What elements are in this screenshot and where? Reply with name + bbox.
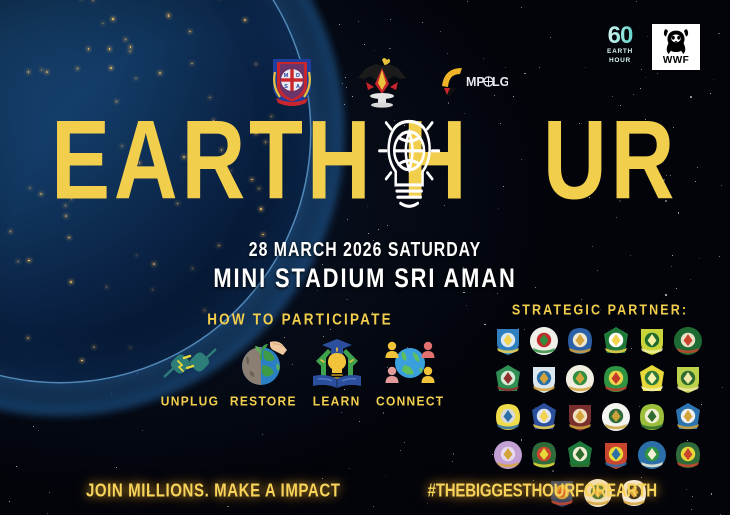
- participate-icon-art: [303, 336, 371, 390]
- earth-hour-60-number: 60: [598, 24, 642, 47]
- partners-heading: STRATEGIC PARTNER:: [482, 302, 718, 318]
- partner-crest-18[interactable]: [673, 402, 703, 432]
- partner-crest-23[interactable]: [637, 440, 667, 470]
- partner-crest-21[interactable]: [565, 440, 595, 470]
- title-prefix: EARTH H: [51, 98, 470, 222]
- footer-hashtag: #THEBIGGESTHOURFOREARTH: [428, 481, 657, 502]
- participate-label: LEARN: [303, 393, 371, 408]
- participate-icon-art: [229, 336, 297, 390]
- participate-icon-art: [376, 336, 444, 390]
- svg-text:D: D: [296, 73, 300, 79]
- participate-icon-art: [156, 336, 224, 390]
- lightbulb-book-graduation-icon: [310, 338, 364, 388]
- event-details: 28 MARCH 2026 SATURDAY MINI STADIUM SRI …: [0, 240, 730, 292]
- partner-crest-12[interactable]: [673, 364, 703, 394]
- partner-crest-22[interactable]: [601, 440, 631, 470]
- participate-label: CONNECT: [376, 393, 444, 408]
- partner-crest-15[interactable]: [565, 402, 595, 432]
- panda-icon: [659, 26, 693, 56]
- page-title: EARTH HOUR: [0, 102, 730, 204]
- partner-crest-4[interactable]: [601, 326, 631, 356]
- partner-crest-6[interactable]: [673, 326, 703, 356]
- partner-crest-13[interactable]: [493, 402, 523, 432]
- participate-item-learn[interactable]: LEARN: [303, 336, 371, 408]
- earth-hour-logo-line2: HOUR: [598, 57, 642, 65]
- partner-crest-9[interactable]: [565, 364, 595, 394]
- partner-crest-7[interactable]: [493, 364, 523, 394]
- partner-crest-17[interactable]: [637, 402, 667, 432]
- earth-hour-60-logo: 60 EARTH HOUR: [598, 24, 642, 68]
- participate-heading: HOW TO PARTICIPATE: [150, 311, 450, 328]
- event-venue: MINI STADIUM SRI AMAN: [18, 263, 712, 294]
- partner-crest-11[interactable]: [637, 364, 667, 394]
- mphlg-logo: MP LG: [440, 64, 508, 98]
- earth-hour-logo-line1: EARTH: [598, 48, 642, 56]
- partner-crest-8[interactable]: [529, 364, 559, 394]
- participate-item-unplug[interactable]: UNPLUG: [156, 336, 224, 408]
- wwf-label: WWF: [663, 55, 689, 66]
- partner-crest-2[interactable]: [529, 326, 559, 356]
- participate-icon-row: UNPLUG: [150, 336, 450, 408]
- participate-label: UNPLUG: [156, 393, 224, 408]
- unplug-plug-icon: [162, 343, 218, 383]
- how-to-participate-section: HOW TO PARTICIPATE UNPLUG: [150, 312, 450, 408]
- event-date: 28 MARCH 2026 SATURDAY: [26, 238, 705, 262]
- partner-crest-14[interactable]: [529, 402, 559, 432]
- title-text: EARTH HOUR: [51, 102, 678, 219]
- footer-slogan: JOIN MILLIONS. MAKE A IMPACT: [86, 481, 341, 502]
- partner-crest-16[interactable]: [601, 402, 631, 432]
- title-suffix: UR: [543, 98, 678, 222]
- partner-crest-3[interactable]: [565, 326, 595, 356]
- svg-text:LG: LG: [492, 75, 508, 89]
- partner-crest-10[interactable]: [601, 364, 631, 394]
- people-around-globe-icon: [382, 338, 438, 388]
- earth-hour-poster: M D S A MP LG: [0, 0, 730, 515]
- svg-text:MP: MP: [466, 75, 485, 89]
- hand-planting-earth-icon: [237, 338, 289, 388]
- svg-text:S: S: [284, 84, 288, 90]
- partner-crest-19[interactable]: [493, 440, 523, 470]
- svg-text:M: M: [284, 73, 289, 79]
- participate-item-connect[interactable]: CONNECT: [376, 336, 444, 408]
- svg-text:A: A: [296, 84, 300, 90]
- participate-item-restore[interactable]: RESTORE: [229, 336, 297, 408]
- partner-crest-1[interactable]: [493, 326, 523, 356]
- partner-crest-20[interactable]: [529, 440, 559, 470]
- participate-label: RESTORE: [229, 393, 297, 408]
- partner-crest-5[interactable]: [637, 326, 667, 356]
- partner-crest-24[interactable]: [673, 440, 703, 470]
- strategic-partners-section: STRATEGIC PARTNER:: [482, 303, 718, 508]
- wwf-logo: WWF: [652, 24, 700, 70]
